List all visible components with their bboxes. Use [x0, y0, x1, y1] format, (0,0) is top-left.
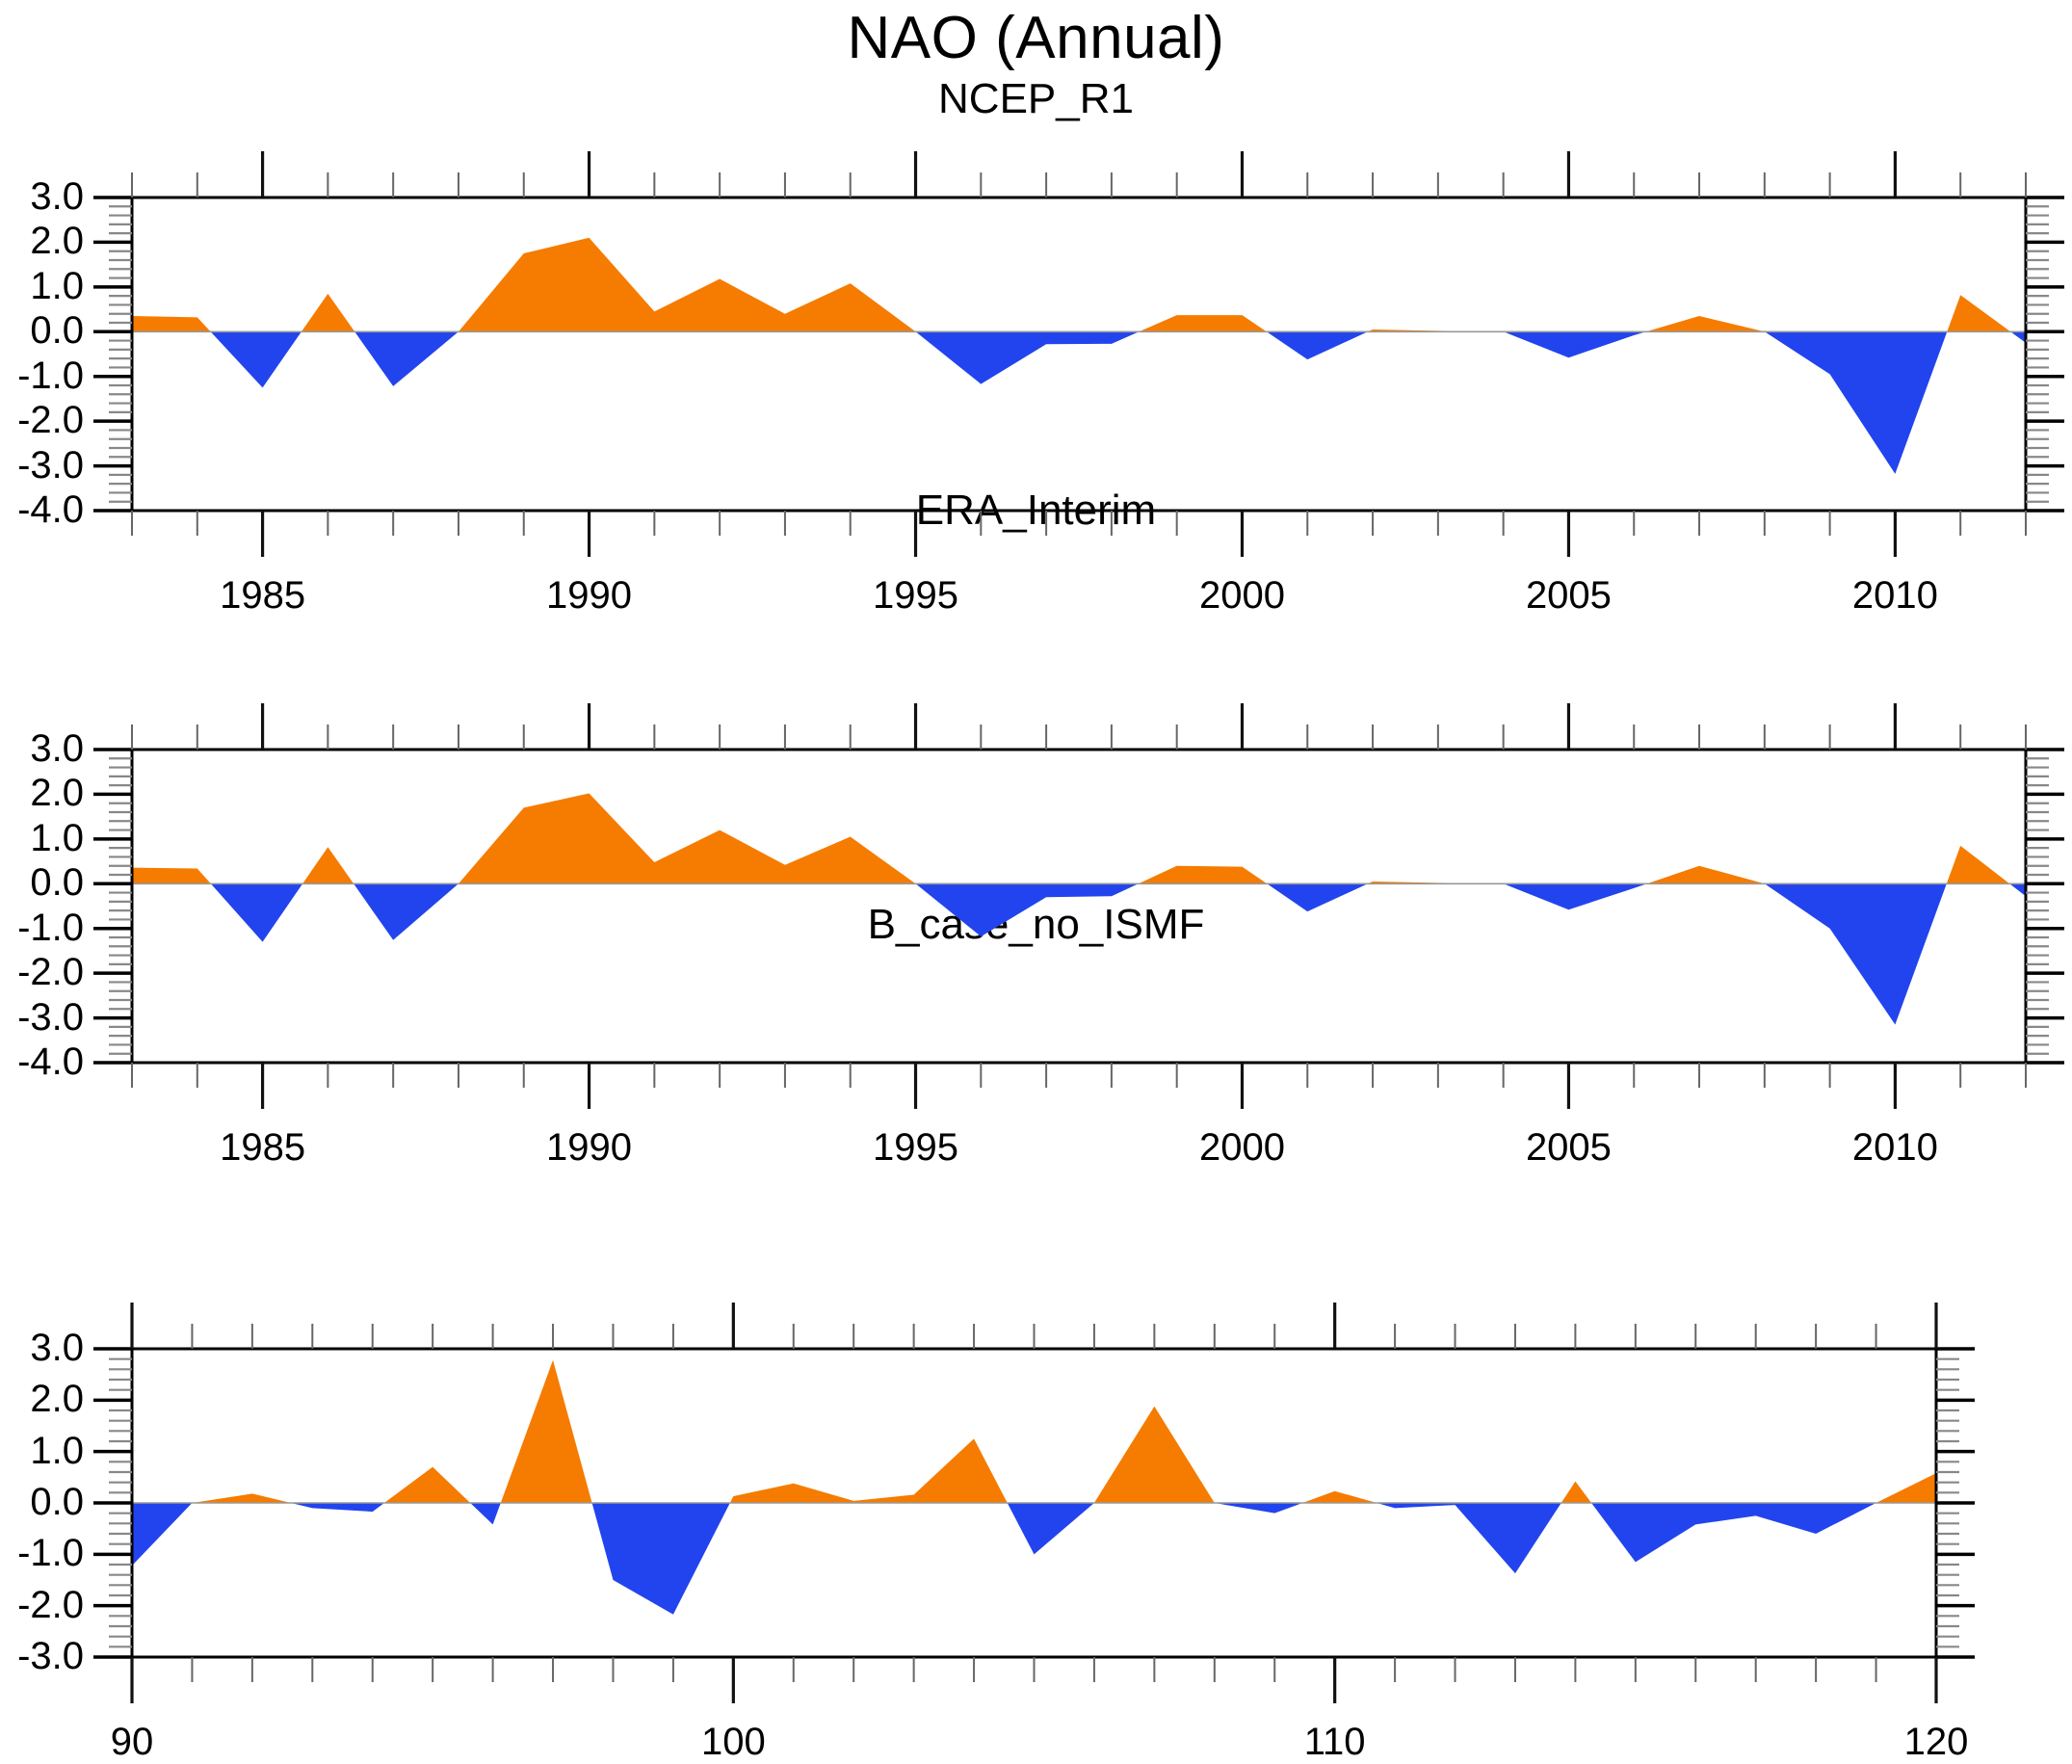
area-negative [354, 331, 459, 386]
area-negative [1267, 331, 1368, 359]
area-negative [1504, 331, 1646, 357]
area-negative [1267, 883, 1368, 911]
y-tick-label: 0.0 [0, 863, 84, 902]
x-tick-label: 2010 [1818, 576, 1972, 615]
area-positive [132, 316, 211, 331]
x-tick-label: 2000 [1165, 576, 1319, 615]
area-positive [1302, 1491, 1377, 1503]
area-positive [1139, 315, 1266, 331]
area-positive [459, 794, 916, 884]
plot-canvas [0, 0, 2072, 1764]
y-tick-label: 3.0 [0, 177, 84, 216]
plot-2 [93, 1303, 1975, 1703]
y-tick-label: 3.0 [0, 729, 84, 768]
figure-root: NAO (Annual) NCEP_R1 ERA_Interim B_case_… [0, 0, 2072, 1764]
area-negative [2009, 883, 2026, 896]
y-tick-label: -3.0 [0, 1637, 84, 1675]
area-negative [1765, 331, 1947, 474]
y-tick-label: -4.0 [0, 1042, 84, 1081]
y-tick-label: 3.0 [0, 1329, 84, 1367]
y-tick-label: 0.0 [0, 311, 84, 350]
x-tick-label: 1985 [186, 576, 340, 615]
x-tick-label: 110 [1258, 1723, 1412, 1761]
x-tick-label: 1995 [839, 1128, 993, 1167]
area-negative [291, 1503, 384, 1512]
y-tick-label: 0.0 [0, 1483, 84, 1521]
area-negative [211, 883, 302, 941]
y-tick-label: -2.0 [0, 953, 84, 991]
y-tick-label: -4.0 [0, 490, 84, 529]
area-positive [192, 1493, 291, 1503]
area-negative [592, 1503, 730, 1615]
area-positive [302, 847, 354, 883]
area-negative [354, 883, 459, 940]
area-positive [384, 1467, 470, 1503]
x-tick-label: 1995 [839, 576, 993, 615]
y-tick-label: -3.0 [0, 446, 84, 485]
x-tick-label: 2005 [1491, 1128, 1645, 1167]
x-tick-label: 2000 [1165, 1128, 1319, 1167]
area-positive [302, 294, 354, 331]
area-positive [1139, 866, 1267, 884]
area-negative [1215, 1503, 1302, 1514]
area-positive [1876, 1473, 1936, 1503]
area-negative [1008, 1503, 1094, 1554]
x-tick-label: 2005 [1491, 576, 1645, 615]
y-tick-label: 2.0 [0, 1380, 84, 1418]
area-negative [916, 331, 1140, 383]
area-positive [1647, 866, 1765, 884]
x-tick-label: 1990 [512, 576, 667, 615]
area-positive [1094, 1407, 1215, 1503]
area-negative [1765, 883, 1947, 1024]
y-tick-label: -3.0 [0, 998, 84, 1037]
x-tick-label: 1985 [186, 1128, 340, 1167]
x-tick-label: 100 [656, 1723, 810, 1761]
x-tick-label: 120 [1859, 1723, 2013, 1761]
y-tick-label: -1.0 [0, 908, 84, 947]
y-tick-label: -2.0 [0, 401, 84, 439]
plot-1 [93, 703, 2064, 1109]
y-tick-label: 1.0 [0, 819, 84, 857]
area-positive [1646, 316, 1765, 331]
y-tick-label: -2.0 [0, 1586, 84, 1624]
area-positive [459, 238, 916, 331]
x-tick-label: 90 [55, 1723, 209, 1761]
area-negative [916, 883, 1139, 936]
x-tick-label: 1990 [512, 1128, 667, 1167]
area-negative [470, 1503, 501, 1524]
area-positive [132, 868, 211, 884]
area-negative [1591, 1503, 1875, 1562]
y-tick-label: 1.0 [0, 1432, 84, 1470]
y-tick-label: 2.0 [0, 774, 84, 812]
area-positive [1561, 1482, 1591, 1503]
area-positive [730, 1438, 1008, 1503]
area-negative [2010, 331, 2026, 343]
area-positive [501, 1360, 592, 1503]
x-tick-label: 2010 [1818, 1128, 1972, 1167]
area-positive [1947, 846, 2009, 883]
area-negative [132, 1503, 192, 1566]
plot-0 [93, 151, 2064, 557]
y-tick-label: -1.0 [0, 356, 84, 395]
area-negative [1504, 883, 1647, 909]
area-negative [211, 331, 302, 387]
y-tick-label: 2.0 [0, 222, 84, 260]
area-positive [1947, 295, 2010, 331]
area-negative [1377, 1503, 1561, 1573]
y-tick-label: 1.0 [0, 267, 84, 305]
y-tick-label: -1.0 [0, 1534, 84, 1572]
